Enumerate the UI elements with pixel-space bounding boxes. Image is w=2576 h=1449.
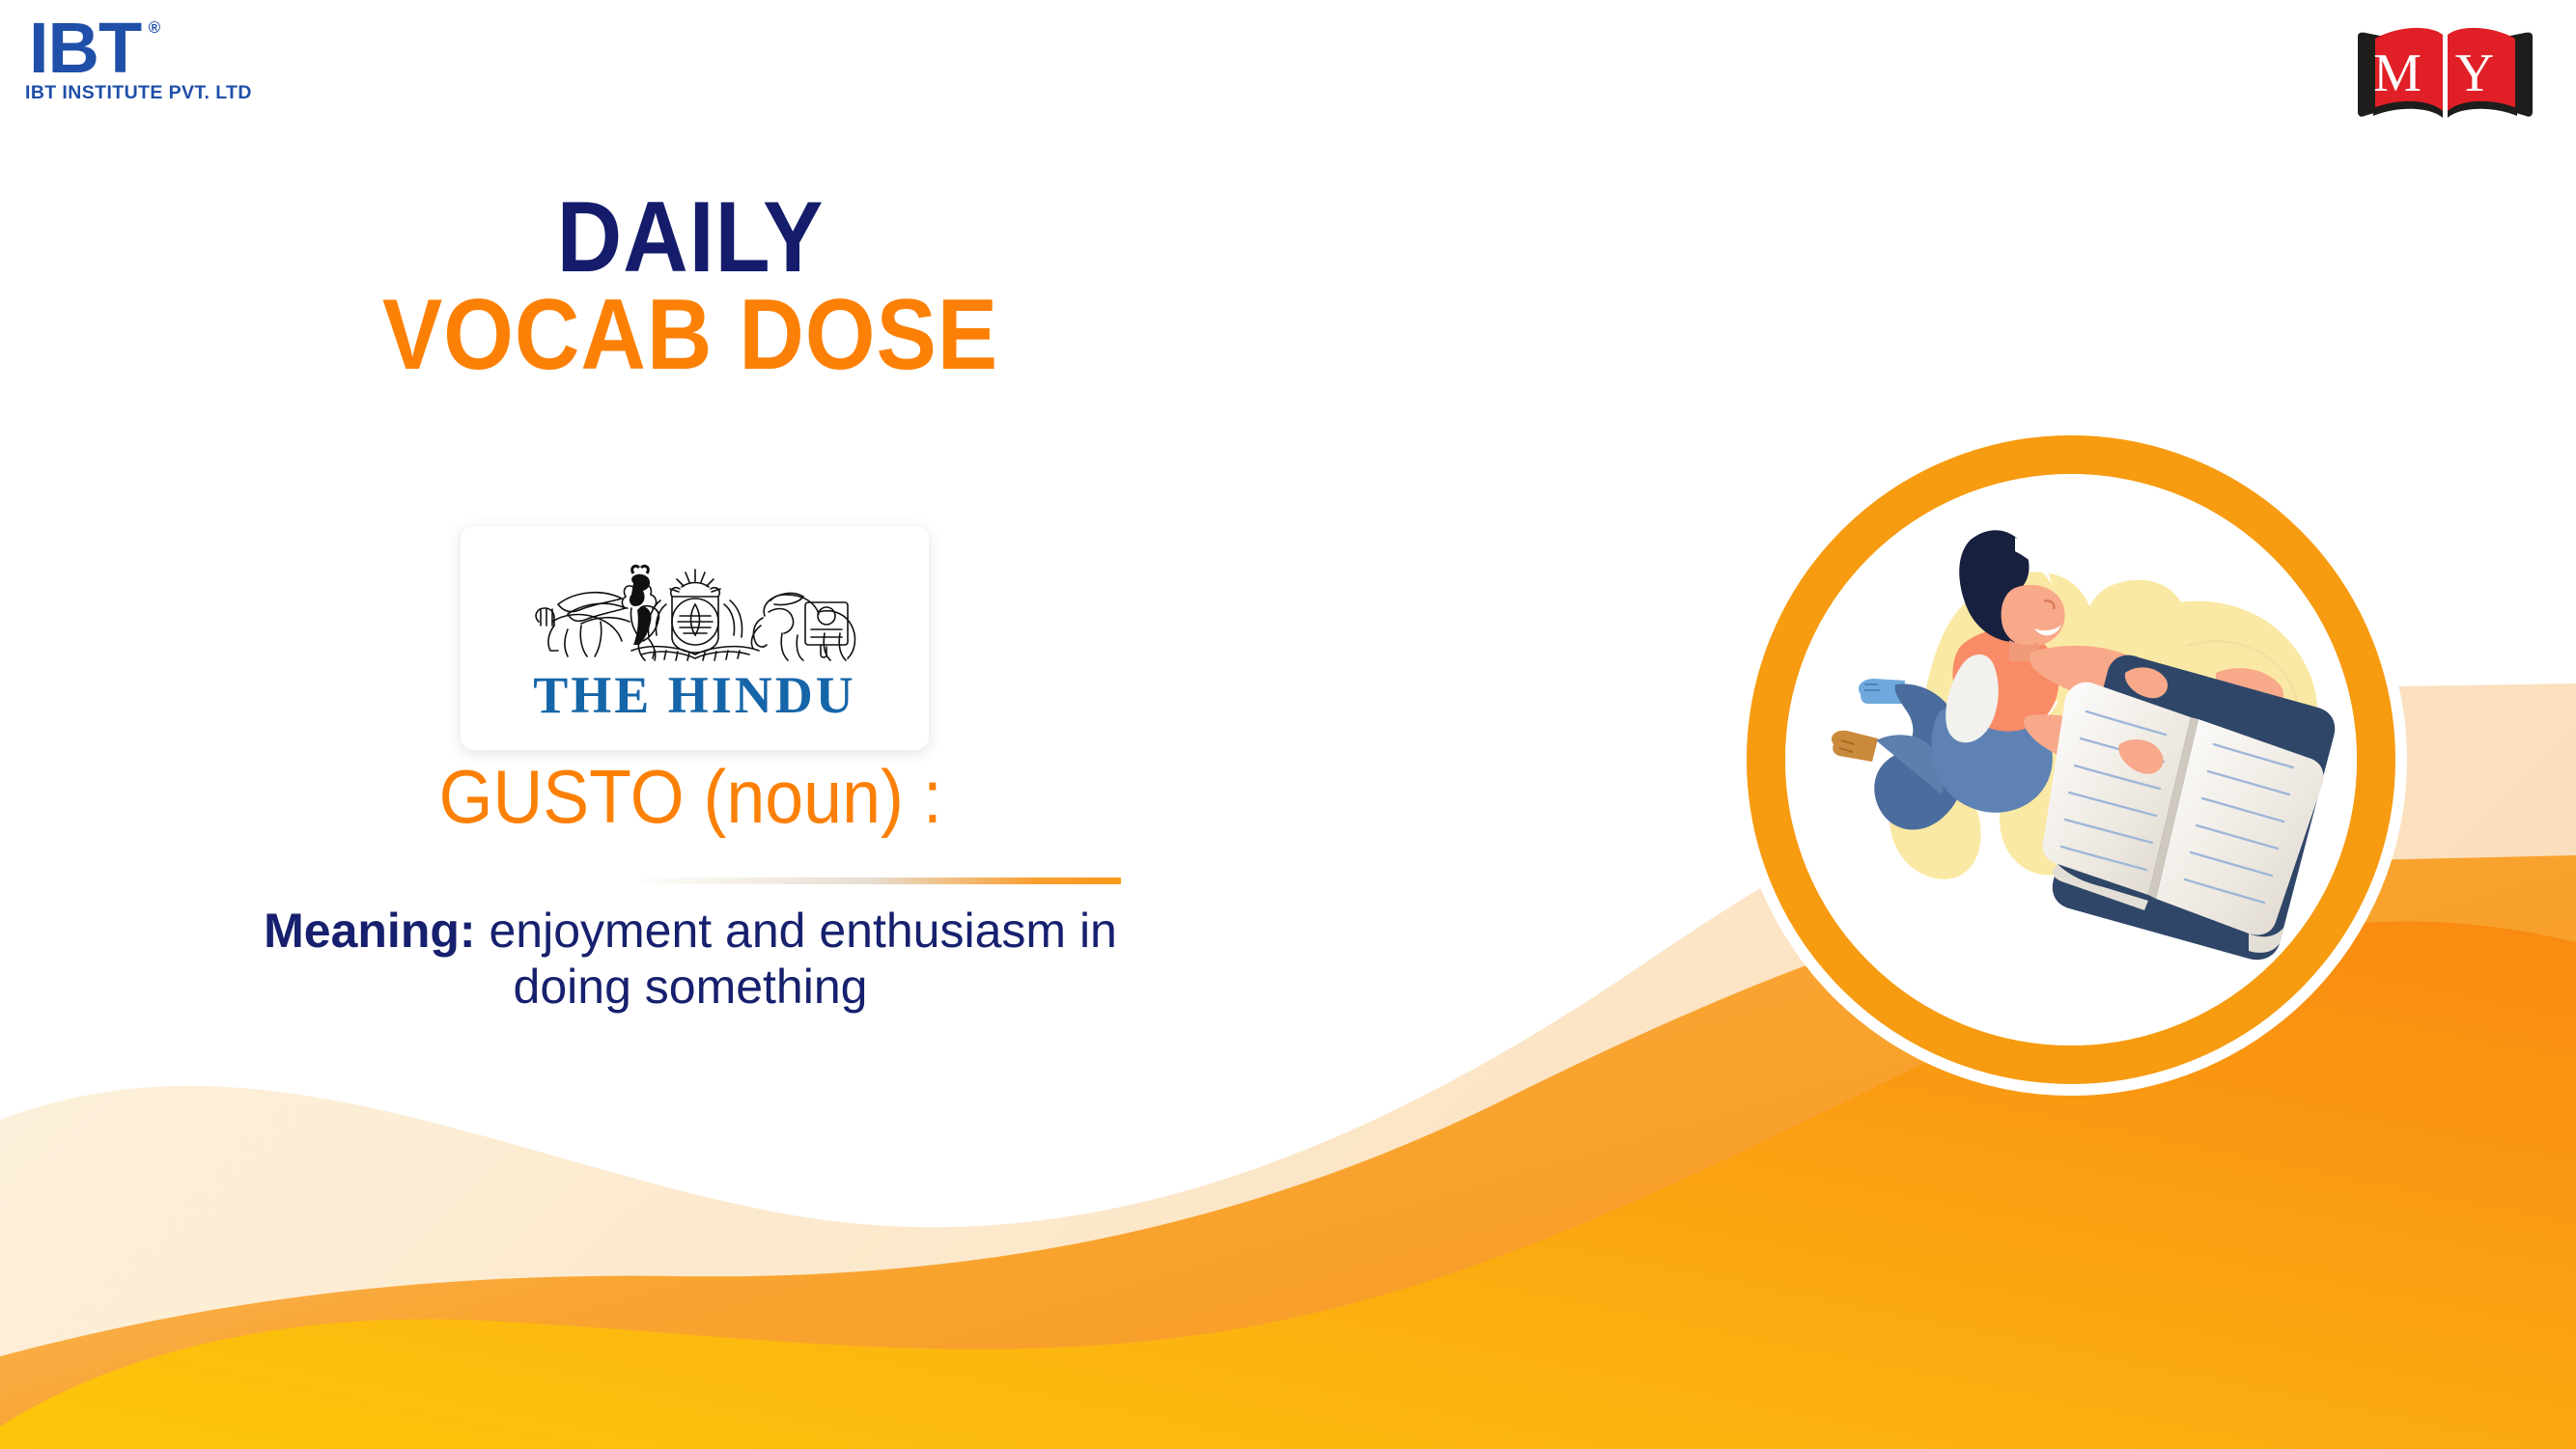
my-logo-letter-m: M bbox=[2373, 43, 2422, 103]
poster-heading: DAILY VOCAB DOSE bbox=[0, 189, 1381, 384]
vocab-word-block: GUSTO (noun) : bbox=[0, 755, 1381, 838]
meaning-label: Meaning: bbox=[264, 904, 475, 958]
reading-illustration bbox=[1733, 422, 2409, 1098]
ibt-logo-letters: IBT bbox=[29, 8, 141, 88]
vocab-word-line: GUSTO (noun) : bbox=[438, 755, 941, 838]
my-open-book-logo: M Y bbox=[2346, 15, 2544, 124]
crest-figure-head-icon bbox=[629, 574, 649, 606]
ibt-logo-mark: IBT ® bbox=[25, 17, 141, 79]
my-logo-letter-y: Y bbox=[2455, 43, 2494, 103]
the-hindu-source-card: THE HINDU bbox=[461, 526, 929, 750]
crest-figure-horns-icon bbox=[631, 566, 648, 573]
meaning-line-2: doing something bbox=[0, 959, 1381, 1015]
the-hindu-crest-icon bbox=[525, 562, 865, 666]
heading-line-vocab-dose: VOCAB DOSE bbox=[70, 287, 1312, 384]
registered-trademark-icon: ® bbox=[149, 19, 160, 36]
ibt-logo: IBT ® IBT INSTITUTE PVT. LTD bbox=[25, 17, 276, 106]
heading-line-daily: DAILY bbox=[70, 189, 1312, 287]
the-hindu-wordmark: THE HINDU bbox=[533, 668, 856, 722]
meaning-text-part-1: enjoyment and enthusiasm in bbox=[489, 904, 1116, 958]
vocab-word-underline bbox=[642, 878, 1121, 884]
vocab-poster-canvas: IBT ® IBT INSTITUTE PVT. LTD M Y DAILY V… bbox=[0, 0, 2576, 1449]
vocab-meaning-block: Meaning: enjoyment and enthusiasm in doi… bbox=[0, 903, 1381, 1015]
meaning-line-1: Meaning: enjoyment and enthusiasm in bbox=[0, 903, 1381, 959]
